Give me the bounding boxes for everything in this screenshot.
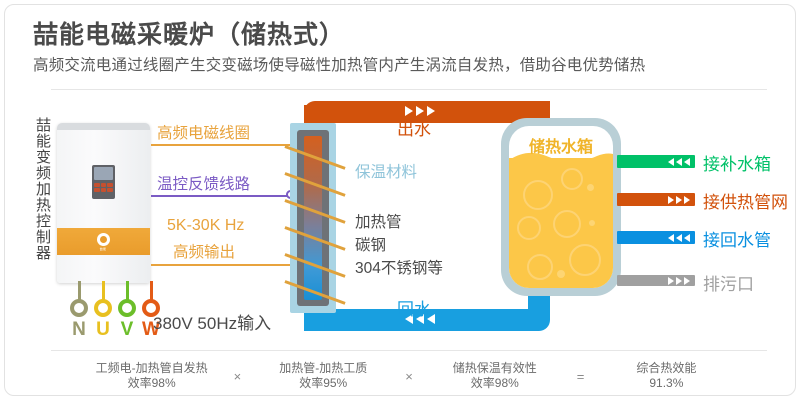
port-label: 接供热管网 (703, 188, 788, 213)
label-insulation-material: 保温材料 (355, 160, 417, 182)
bubble (517, 216, 541, 240)
efficiency-item: 加热管-加热工质效率95% (259, 361, 387, 391)
bubble (587, 184, 594, 191)
header-divider (51, 89, 767, 90)
heater-tube (304, 136, 322, 300)
bubble (553, 210, 581, 238)
label-frequency: 5K-30K Hz (167, 217, 244, 235)
port-label: 接回水管 (703, 226, 771, 251)
port-arrow-bar (617, 275, 695, 286)
port-arrow-bar (617, 231, 695, 244)
port-label: 接补水箱 (703, 150, 771, 175)
efficiency-chain: 工频电-加热管自发热效率98%×加热管-加热工质效率95%×储热保温有效性效率9… (51, 361, 767, 391)
efficiency-item: 工频电-加热管自发热效率98% (88, 361, 216, 391)
operator-multiply: × (234, 369, 242, 384)
terminal-ring-icon (70, 299, 88, 317)
efficiency-value: 91.3% (602, 376, 730, 391)
tank-port-3: 接回水管 (617, 231, 695, 244)
terminal-label: U (91, 319, 115, 341)
coil-leader-line (151, 144, 303, 146)
efficiency-name: 加热管-加热工质 (259, 361, 387, 376)
label-supply-water: 出水 (397, 115, 431, 140)
efficiency-item: 综合热效能91.3% (602, 361, 730, 391)
bubble (589, 220, 595, 226)
port-label: 排污口 (703, 270, 754, 295)
port-arrow-bar (617, 193, 695, 206)
port-arrow-bar (617, 155, 695, 168)
efficiency-name: 工频电-加热管自发热 (88, 361, 216, 376)
label-return-water: 回水 (397, 295, 431, 320)
output-leader-line (151, 264, 303, 266)
terminal-ring-icon (94, 299, 112, 317)
terminal-label: V (115, 319, 139, 341)
tank-label: 储热水箱 (509, 133, 613, 157)
label-stainless-steel: 304不锈钢等 (355, 256, 443, 278)
controller-vertical-label: 喆能变频加热控制器 (29, 117, 51, 261)
tank-port-1: 接补水箱 (617, 155, 695, 168)
tank-water (509, 158, 613, 288)
tank-port-2: 接供热管网 (617, 193, 695, 206)
terminal-ring-icon (118, 299, 136, 317)
tank-port-4: 排污口 (617, 275, 695, 286)
label-carbon-steel: 碳钢 (355, 233, 386, 255)
controller-keypad (94, 183, 113, 192)
bubble (523, 180, 553, 210)
logo-ring-icon (97, 233, 110, 246)
controller-top-cap (57, 123, 150, 130)
terminal-label: N (67, 319, 91, 341)
controller-screen (94, 167, 113, 180)
diagram-card: 喆能电磁采暖炉（储热式） 高频交流电通过线圈产生交变磁场使导磁性加热管内产生涡流… (4, 4, 796, 396)
label-coil: 高频电磁线圈 (157, 121, 250, 143)
label-heating-tube: 加热管 (355, 210, 402, 232)
operator-multiply: × (405, 369, 413, 384)
efficiency-name: 储热保温有效性 (431, 361, 559, 376)
power-input-spec: 380V 50Hz输入 (153, 309, 271, 334)
efficiency-name: 综合热效能 (602, 361, 730, 376)
controller-display-panel (92, 165, 115, 199)
logo-text: 喆能 (100, 247, 107, 251)
efficiency-value: 效率95% (259, 376, 387, 391)
bubble (557, 270, 565, 278)
bubble (569, 244, 601, 276)
bubble (527, 254, 553, 280)
thermostat-leader-line (151, 195, 290, 197)
efficiency-item: 储热保温有效性效率98% (431, 361, 559, 391)
label-thermostat-line: 温控反馈线路 (157, 172, 250, 194)
controller-unit: 喆能 (57, 123, 150, 283)
bubble (561, 168, 583, 190)
controller-logo: 喆能 (86, 232, 120, 251)
page-title: 喆能电磁采暖炉（储热式） (33, 15, 345, 51)
footer-divider (51, 350, 767, 351)
label-high-freq-output: 高频输出 (173, 240, 235, 262)
efficiency-value: 效率98% (431, 376, 559, 391)
operator-equals: = (577, 369, 585, 384)
page-subtitle: 高频交流电通过线圈产生交变磁场使导磁性加热管内产生涡流自发热，借助谷电优势储热 (33, 53, 645, 75)
efficiency-value: 效率98% (88, 376, 216, 391)
